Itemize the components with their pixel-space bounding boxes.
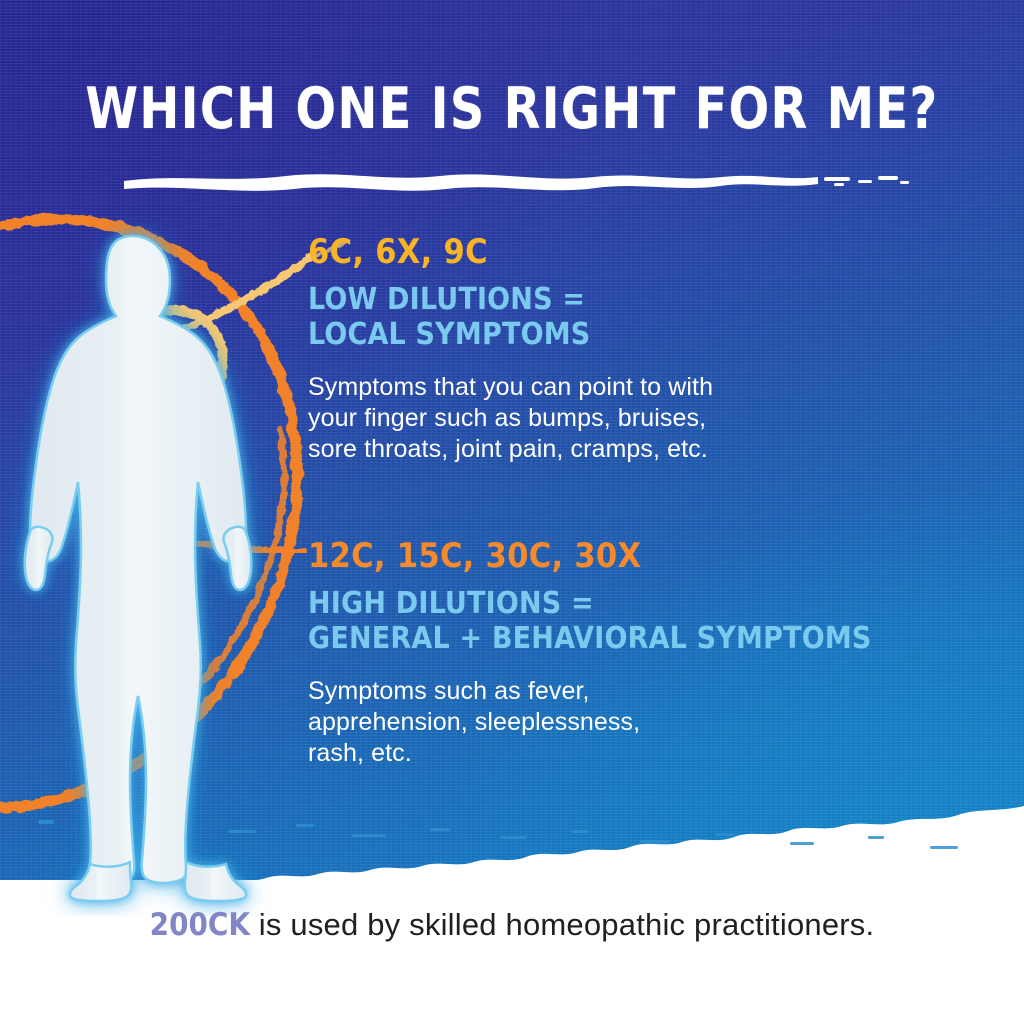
page-title-wrap: WHICH ONE IS RIGHT FOR ME? bbox=[0, 78, 1024, 140]
footer-note: 200CK is used by skilled homeopathic pra… bbox=[0, 905, 1024, 945]
low-dilution-code: 6C, 6X, 9C bbox=[308, 232, 988, 272]
low-desc-line-1: Symptoms that you can point to with bbox=[308, 372, 988, 403]
low-desc-line-3: sore throats, joint pain, cramps, etc. bbox=[308, 434, 988, 465]
high-subhead-line-2: GENERAL + BEHAVIORAL SYMPTOMS bbox=[308, 621, 998, 656]
low-desc-line-2: your finger such as bumps, bruises, bbox=[308, 403, 988, 434]
high-dilution-block: 12C, 15C, 30C, 30X HIGH DILUTIONS = GENE… bbox=[308, 536, 998, 769]
footer-text: is used by skilled homeopathic practitio… bbox=[250, 907, 874, 942]
footer-highlight: 200CK bbox=[150, 907, 250, 943]
brush-stroke-underline-icon bbox=[118, 168, 918, 192]
infographic-poster: WHICH ONE IS RIGHT FOR ME? bbox=[0, 0, 1024, 1024]
high-dilution-subhead: HIGH DILUTIONS = GENERAL + BEHAVIORAL SY… bbox=[308, 586, 998, 656]
high-desc-line-3: rash, etc. bbox=[308, 738, 998, 769]
low-subhead-line-1: LOW DILUTIONS = bbox=[308, 282, 988, 317]
low-subhead-line-2: LOCAL SYMPTOMS bbox=[308, 317, 988, 352]
low-dilution-description: Symptoms that you can point to with your… bbox=[308, 372, 988, 465]
low-dilution-subhead: LOW DILUTIONS = LOCAL SYMPTOMS bbox=[308, 282, 988, 352]
high-dilution-description: Symptoms such as fever, apprehension, sl… bbox=[308, 676, 998, 769]
high-subhead-line-1: HIGH DILUTIONS = bbox=[308, 586, 998, 621]
low-dilution-block: 6C, 6X, 9C LOW DILUTIONS = LOCAL SYMPTOM… bbox=[308, 232, 988, 465]
page-title: WHICH ONE IS RIGHT FOR ME? bbox=[36, 78, 988, 140]
high-dilution-code: 12C, 15C, 30C, 30X bbox=[308, 536, 998, 576]
high-desc-line-2: apprehension, sleeplessness, bbox=[308, 707, 998, 738]
high-desc-line-1: Symptoms such as fever, bbox=[308, 676, 998, 707]
